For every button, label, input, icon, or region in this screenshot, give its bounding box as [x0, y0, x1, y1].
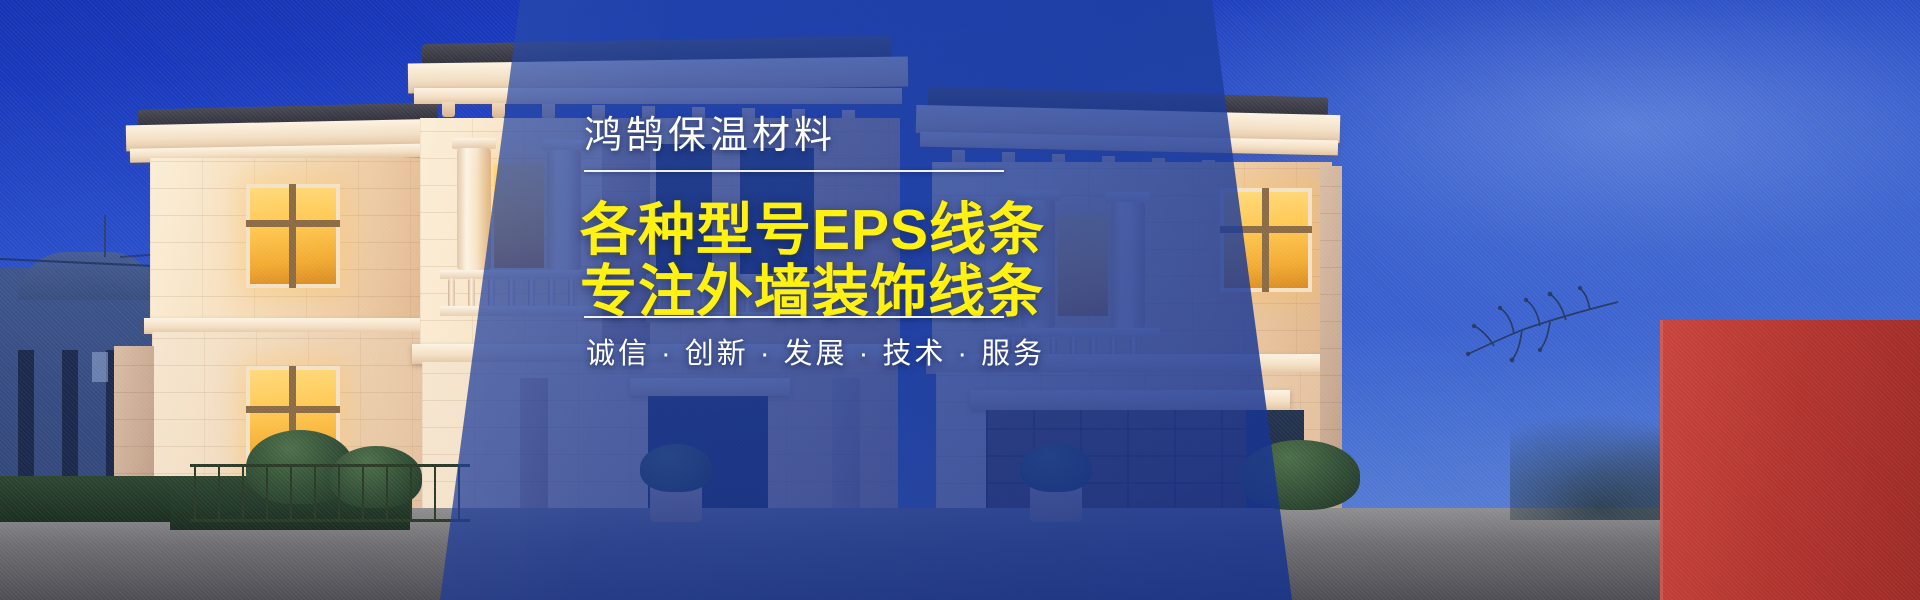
- tagline: 诚信 · 创新 · 发展 · 技术 · 服务: [586, 330, 1045, 372]
- iron-railing: [190, 464, 470, 522]
- window-mullion: [289, 184, 296, 288]
- banner-copy: 鸿鹄保温材料 各种型号EPS线条 专注外墙装饰线条 诚信 · 创新 · 发展 ·…: [548, 0, 1268, 600]
- brand-name: 鸿鹄保温材料: [584, 104, 836, 159]
- dentil: [442, 102, 455, 117]
- tree-branch-icon: [1390, 250, 1620, 380]
- hedge-left: [0, 476, 190, 522]
- promo-banner: 鸿鹄保温材料 各种型号EPS线条 专注外墙装饰线条 诚信 · 创新 · 发展 ·…: [0, 0, 1920, 600]
- red-wall: [1660, 320, 1920, 600]
- window-mullion: [246, 406, 340, 413]
- divider-top: [584, 170, 1004, 172]
- dentil: [492, 103, 505, 118]
- divider-bottom: [584, 316, 1004, 318]
- column: [457, 148, 491, 270]
- baluster: [468, 278, 475, 308]
- window-mullion: [246, 220, 340, 227]
- baluster: [448, 278, 455, 308]
